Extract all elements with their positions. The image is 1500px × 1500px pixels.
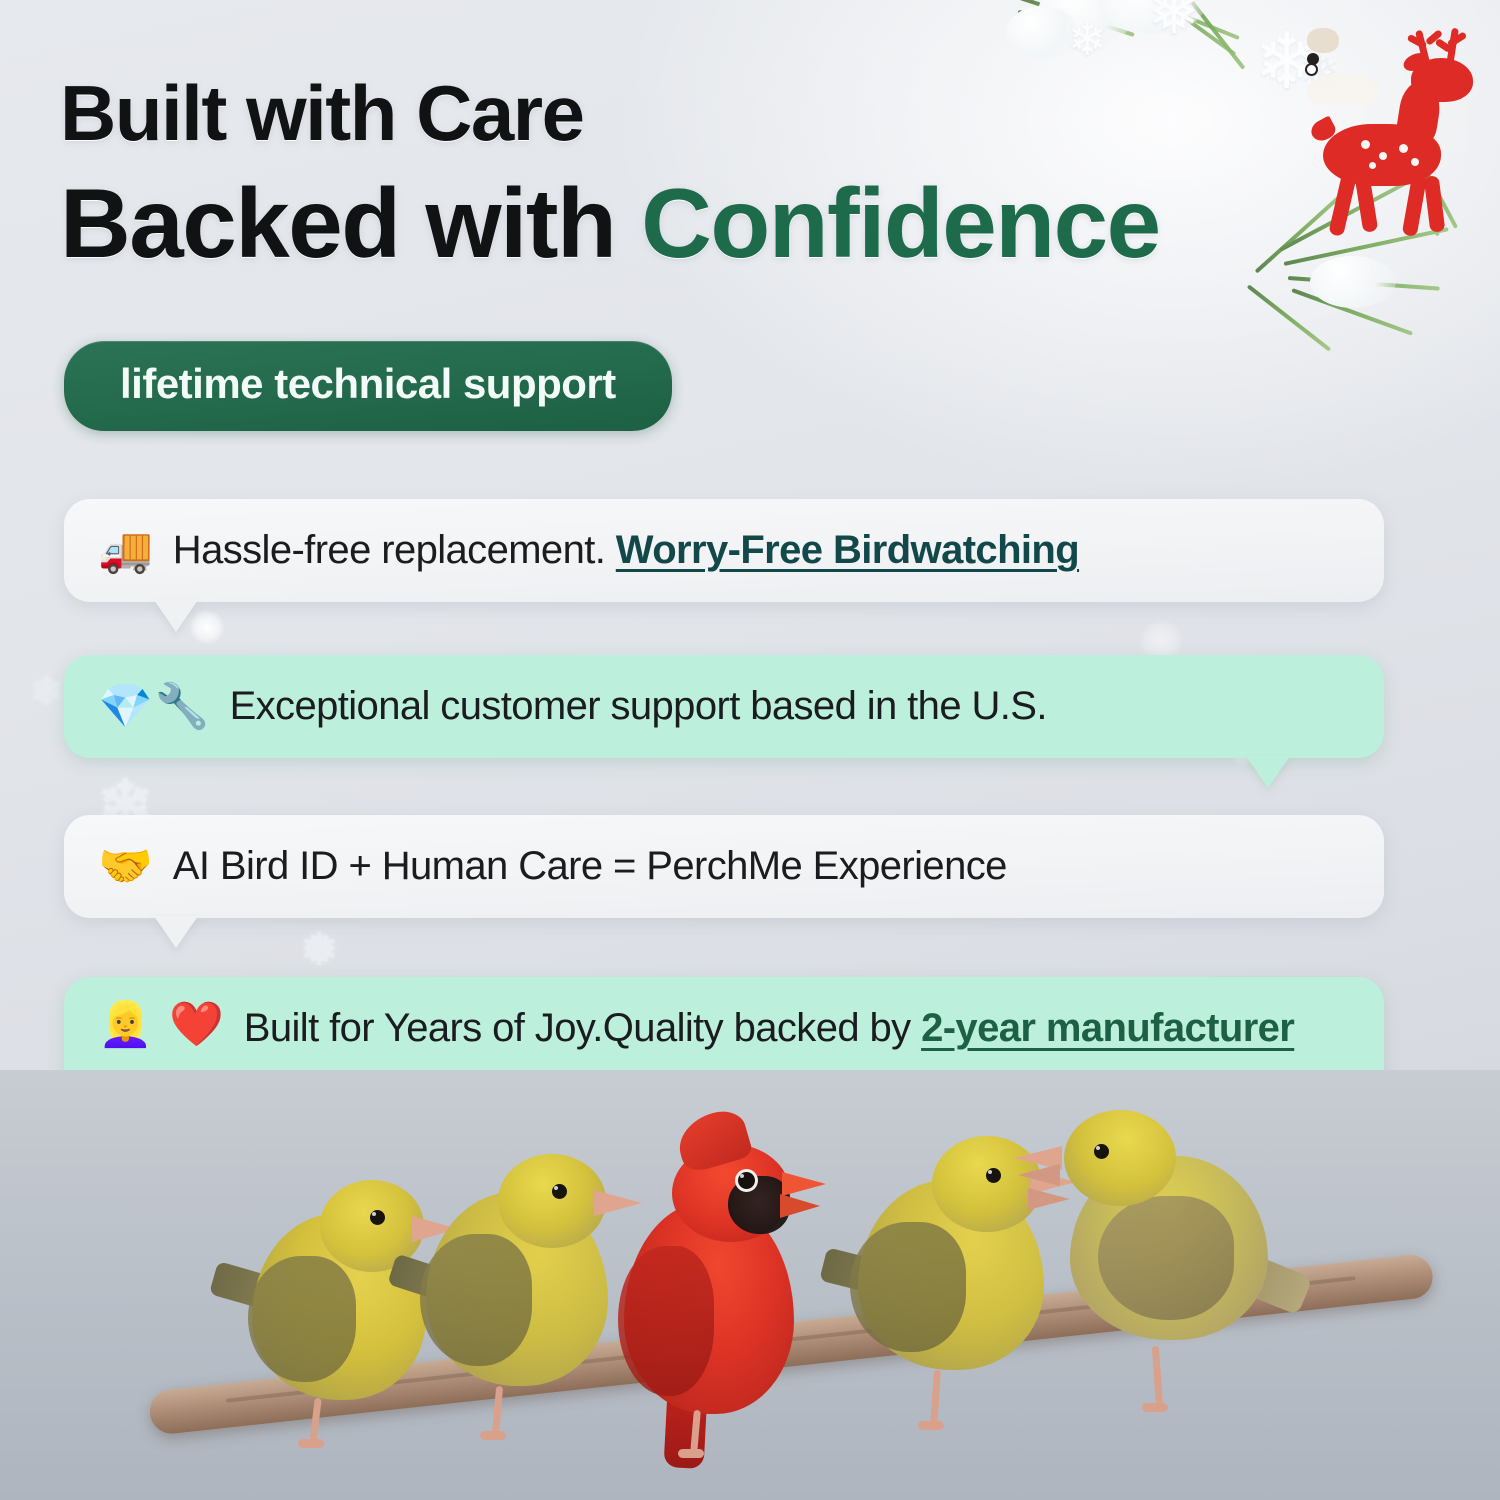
benefit-bubble-us-support-text: Exceptional customer support based in th… <box>230 681 1047 732</box>
handshake-icon: 🤝 <box>98 845 155 889</box>
headline-block: Built with Care Backed with Confidence <box>60 74 1380 272</box>
bubble-tail <box>1246 756 1290 788</box>
snowflake-icon: ❄ <box>1068 16 1107 62</box>
bubble-4-plain: Built for Years of Joy.Quality backed by <box>244 1006 921 1050</box>
snowflake-icon: ❅ <box>300 926 339 972</box>
benefit-bubble-ai-human-care: 🤝 AI Bird ID + Human Care = PerchMe Expe… <box>64 815 1384 918</box>
headline-line-1: Built with Care <box>60 74 1380 152</box>
bubble-tail <box>154 600 198 632</box>
benefit-bubble-ai-human-care-text: AI Bird ID + Human Care = PerchMe Experi… <box>173 841 1007 892</box>
bubble-tail <box>154 916 198 948</box>
benefit-bubble-us-support: 💎🔧 Exceptional customer support based in… <box>64 655 1384 758</box>
headline-line-2: Backed with Confidence <box>60 174 1380 272</box>
woman-and-heart-icon: 👱‍♀️ ❤️ <box>98 1003 226 1047</box>
snowflake-icon: ❄ <box>30 672 64 712</box>
headline-accent-confidence: Confidence <box>641 168 1160 278</box>
snowflake-icon: ❅ <box>1148 0 1200 44</box>
diamond-and-wrench-icon: 💎🔧 <box>98 685 212 729</box>
red-cardinal <box>600 1136 840 1448</box>
benefit-bubble-replacement-text: Hassle-free replacement. Worry-Free Bird… <box>173 525 1079 576</box>
lifetime-support-badge: lifetime technical support <box>64 341 672 431</box>
bubble-1-plain: Hassle-free replacement. <box>173 528 616 572</box>
benefit-bubble-replacement: 🚚 Hassle-free replacement. Worry-Free Bi… <box>64 499 1384 602</box>
yellow-finch-4 <box>1050 1102 1300 1350</box>
lifetime-support-badge-label: lifetime technical support <box>120 360 616 407</box>
promo-poster: ❄ ❅ ❅ ❄ <box>0 0 1500 1500</box>
worry-free-birdwatching-link[interactable]: Worry-Free Birdwatching <box>616 528 1079 572</box>
birds-on-branch-photo <box>0 1070 1500 1500</box>
delivery-truck-icon: 🚚 <box>98 529 155 573</box>
headline-line-2-plain: Backed with <box>60 168 641 278</box>
